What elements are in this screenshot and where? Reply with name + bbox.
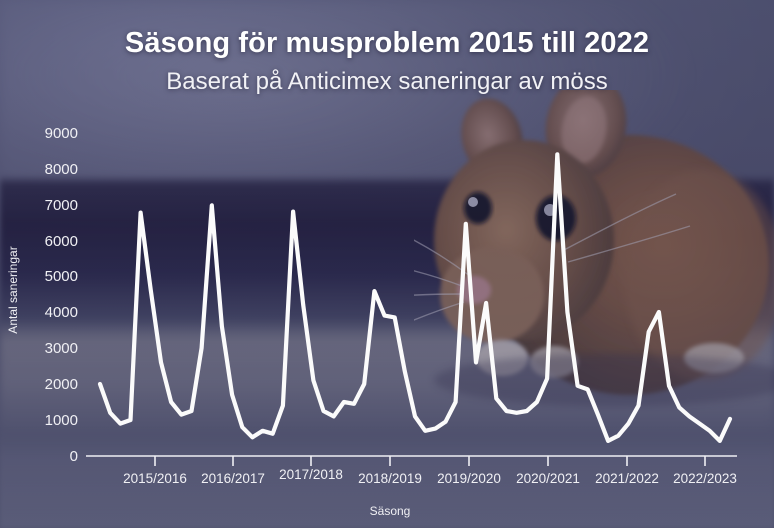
y-tick-label: 4000 xyxy=(45,304,78,321)
x-axis-title: Säsong xyxy=(370,504,411,518)
x-tick-label: 2019/2020 xyxy=(437,471,501,486)
y-tick-label: 1000 xyxy=(45,412,78,429)
x-tick-label: 2018/2019 xyxy=(358,471,422,486)
x-tick-label: 2016/2017 xyxy=(201,471,265,486)
y-tick-label: 6000 xyxy=(45,233,78,250)
y-tick-label: 8000 xyxy=(45,161,78,178)
y-tick-label: 2000 xyxy=(45,376,78,393)
x-axis-ticks xyxy=(155,456,705,466)
y-tick-label: 5000 xyxy=(45,268,78,285)
data-series-line xyxy=(100,154,730,441)
chart-infographic: Säsong för musproblem 2015 till 2022 Bas… xyxy=(0,0,774,528)
x-tick-label: 2017/2018 xyxy=(279,467,343,482)
x-tick-label: 2015/2016 xyxy=(123,471,187,486)
x-axis-tick-labels: 2015/2016 2016/2017 2017/2018 2018/2019 … xyxy=(123,467,737,486)
line-chart: 9000 8000 7000 6000 5000 4000 3000 2000 … xyxy=(0,0,774,528)
x-tick-label: 2020/2021 xyxy=(516,471,580,486)
y-axis-title: Antal saneringar xyxy=(6,246,20,333)
y-axis-tick-labels: 9000 8000 7000 6000 5000 4000 3000 2000 … xyxy=(45,125,78,465)
x-tick-label: 2022/2023 xyxy=(673,471,737,486)
y-tick-label: 7000 xyxy=(45,197,78,214)
x-tick-label: 2021/2022 xyxy=(595,471,659,486)
y-tick-label: 9000 xyxy=(45,125,78,142)
y-tick-label: 3000 xyxy=(45,340,78,357)
y-tick-label: 0 xyxy=(70,448,78,465)
